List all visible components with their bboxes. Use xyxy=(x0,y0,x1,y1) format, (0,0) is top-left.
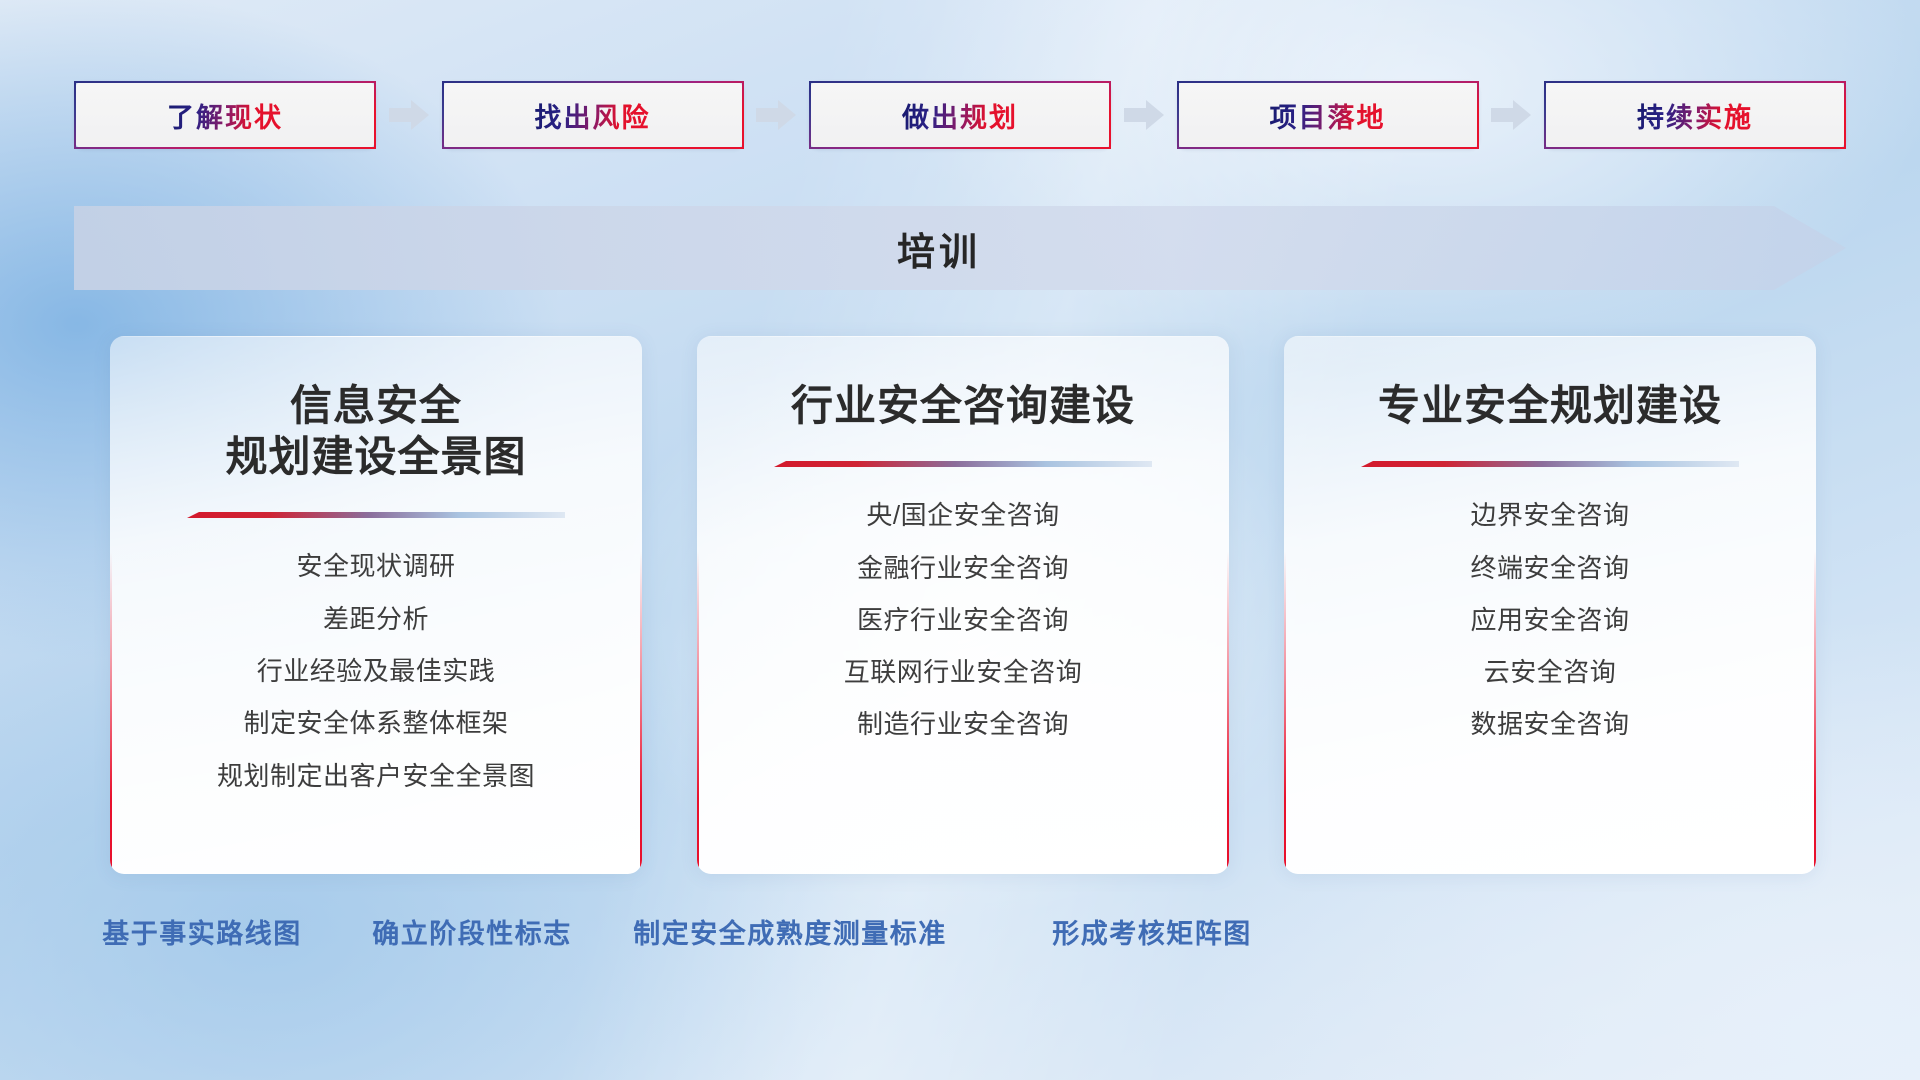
step-understand-status[interactable]: 了解现状 xyxy=(74,81,376,149)
card-item-list: 边界安全咨询 终端安全咨询 应用安全咨询 云安全咨询 数据安全咨询 xyxy=(1318,495,1782,744)
gradient-rule-icon xyxy=(774,461,1152,471)
caption-assessment-matrix: 形成考核矩阵图 xyxy=(1052,912,1252,951)
list-item: 数据安全咨询 xyxy=(1470,704,1629,744)
caption-phase-milestones: 确立阶段性标志 xyxy=(372,912,572,951)
card-title: 专业安全规划建设 xyxy=(1378,380,1722,431)
step-project-landing[interactable]: 项目落地 xyxy=(1177,81,1479,149)
arrow-right-icon xyxy=(389,98,429,132)
list-item: 规划制定出客户安全全景图 xyxy=(217,756,535,796)
caption-row: 基于事实路线图 确立阶段性标志 制定安全成熟度测量标准 形成考核矩阵图 xyxy=(0,912,1920,958)
caption-maturity-measurement: 制定安全成熟度测量标准 xyxy=(633,912,947,951)
step-make-plan[interactable]: 做出规划 xyxy=(809,81,1111,149)
list-item: 云安全咨询 xyxy=(1484,652,1617,692)
list-item: 边界安全咨询 xyxy=(1470,495,1629,535)
card-row: 信息安全 规划建设全景图 xyxy=(110,336,1816,874)
step-label: 项目落地 xyxy=(1270,96,1386,135)
step-continuous-implementation[interactable]: 持续实施 xyxy=(1544,81,1846,149)
list-item: 差距分析 xyxy=(323,599,429,639)
arrow-right-icon xyxy=(1491,98,1531,132)
list-item: 应用安全咨询 xyxy=(1470,600,1629,640)
card-item-list: 安全现状调研 差距分析 行业经验及最佳实践 制定安全体系整体框架 规划制定出客户… xyxy=(144,546,608,795)
card-industry-security-consulting[interactable]: 行业安全咨询建设 央/国 xyxy=(697,336,1229,874)
arrow-right-icon xyxy=(1124,98,1164,132)
slide-stage: 了解现状 找出风险 做出规划 项目落地 持续实施 xyxy=(0,0,1920,1080)
gradient-rule-icon xyxy=(187,512,565,522)
card-title-line: 信息安全 xyxy=(225,380,526,431)
caption-fact-based-roadmap: 基于事实路线图 xyxy=(102,912,302,951)
list-item: 央/国企安全咨询 xyxy=(866,495,1059,535)
card-information-security-panorama[interactable]: 信息安全 规划建设全景图 xyxy=(110,336,642,874)
step-find-risk[interactable]: 找出风险 xyxy=(442,81,744,149)
process-step-row: 了解现状 找出风险 做出规划 项目落地 持续实施 xyxy=(74,80,1846,150)
card-item-list: 央/国企安全咨询 金融行业安全咨询 医疗行业安全咨询 互联网行业安全咨询 制造行… xyxy=(731,495,1195,744)
step-label: 做出规划 xyxy=(902,96,1018,135)
gradient-rule-icon xyxy=(1361,461,1739,471)
list-item: 金融行业安全咨询 xyxy=(857,548,1069,588)
list-item: 终端安全咨询 xyxy=(1470,548,1629,588)
training-banner: 培训 xyxy=(74,206,1846,290)
list-item: 医疗行业安全咨询 xyxy=(857,600,1069,640)
card-title-line: 规划建设全景图 xyxy=(225,431,526,482)
card-top-highlight xyxy=(697,336,1229,337)
list-item: 制造行业安全咨询 xyxy=(857,704,1069,744)
list-item: 安全现状调研 xyxy=(296,546,455,586)
card-title: 信息安全 规划建设全景图 xyxy=(225,380,526,482)
card-title-line: 专业安全规划建设 xyxy=(1378,380,1722,431)
card-title: 行业安全咨询建设 xyxy=(791,380,1135,431)
card-title-line: 行业安全咨询建设 xyxy=(791,380,1135,431)
step-label: 持续实施 xyxy=(1637,96,1753,135)
step-label: 了解现状 xyxy=(167,96,283,135)
arrow-right-icon xyxy=(756,98,796,132)
card-top-highlight xyxy=(110,336,642,337)
list-item: 行业经验及最佳实践 xyxy=(257,651,496,691)
list-item: 互联网行业安全咨询 xyxy=(844,652,1083,692)
card-top-highlight xyxy=(1284,336,1816,337)
step-label: 找出风险 xyxy=(535,96,651,135)
banner-label: 培训 xyxy=(74,206,1846,290)
list-item: 制定安全体系整体框架 xyxy=(243,703,508,743)
card-professional-security-planning[interactable]: 专业安全规划建设 边界安 xyxy=(1284,336,1816,874)
